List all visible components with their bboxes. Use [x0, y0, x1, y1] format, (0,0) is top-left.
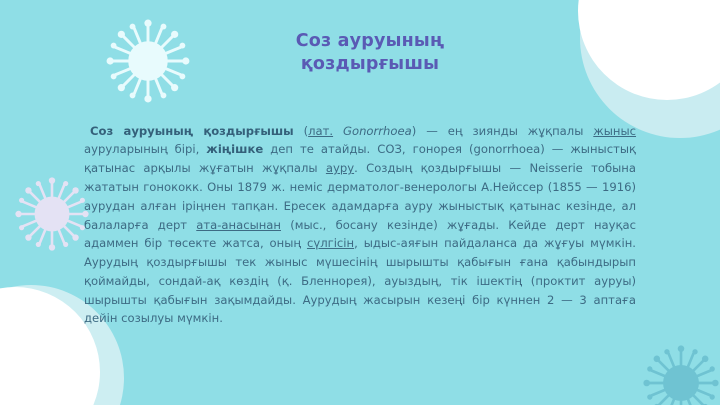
- body-paragraph: Соз ауруының қоздырғышы (лат. Gonorrhoea…: [84, 122, 636, 329]
- link-auru[interactable]: ауру: [326, 161, 354, 175]
- latin-name: Gonorrhoea: [333, 124, 412, 138]
- circle-top-right-front: [578, 0, 720, 100]
- link-sulgisin[interactable]: сүлгісін: [307, 236, 354, 250]
- text-run-5: ) — ең зиянды жұқпалы: [412, 124, 594, 138]
- link-latin-abbrev[interactable]: лат.: [308, 124, 333, 138]
- virus-icon-mid-left: [14, 176, 90, 252]
- link-ata-anasynan[interactable]: ата-анасынан: [196, 218, 281, 232]
- term-bold-zhinishke: жіңішке: [206, 142, 263, 156]
- circle-top-right-back: [580, 0, 720, 138]
- virus-icon-bottom-right: [642, 344, 720, 405]
- link-zhynys[interactable]: жыныс: [593, 124, 636, 138]
- slide-title: Соз ауруының қоздырғышы: [210, 30, 530, 76]
- text-run-2: (: [294, 124, 308, 138]
- virus-icon-top-left: [105, 18, 191, 104]
- text-run-7: ауруларының бірі,: [84, 142, 206, 156]
- term-bold-lead: Соз ауруының қоздырғышы: [90, 124, 294, 138]
- title-line-1: Соз ауруының: [210, 30, 530, 53]
- title-line-2: қоздырғышы: [210, 53, 530, 76]
- slide-canvas: Соз ауруының қоздырғышы Соз ауруының қоз…: [0, 0, 720, 405]
